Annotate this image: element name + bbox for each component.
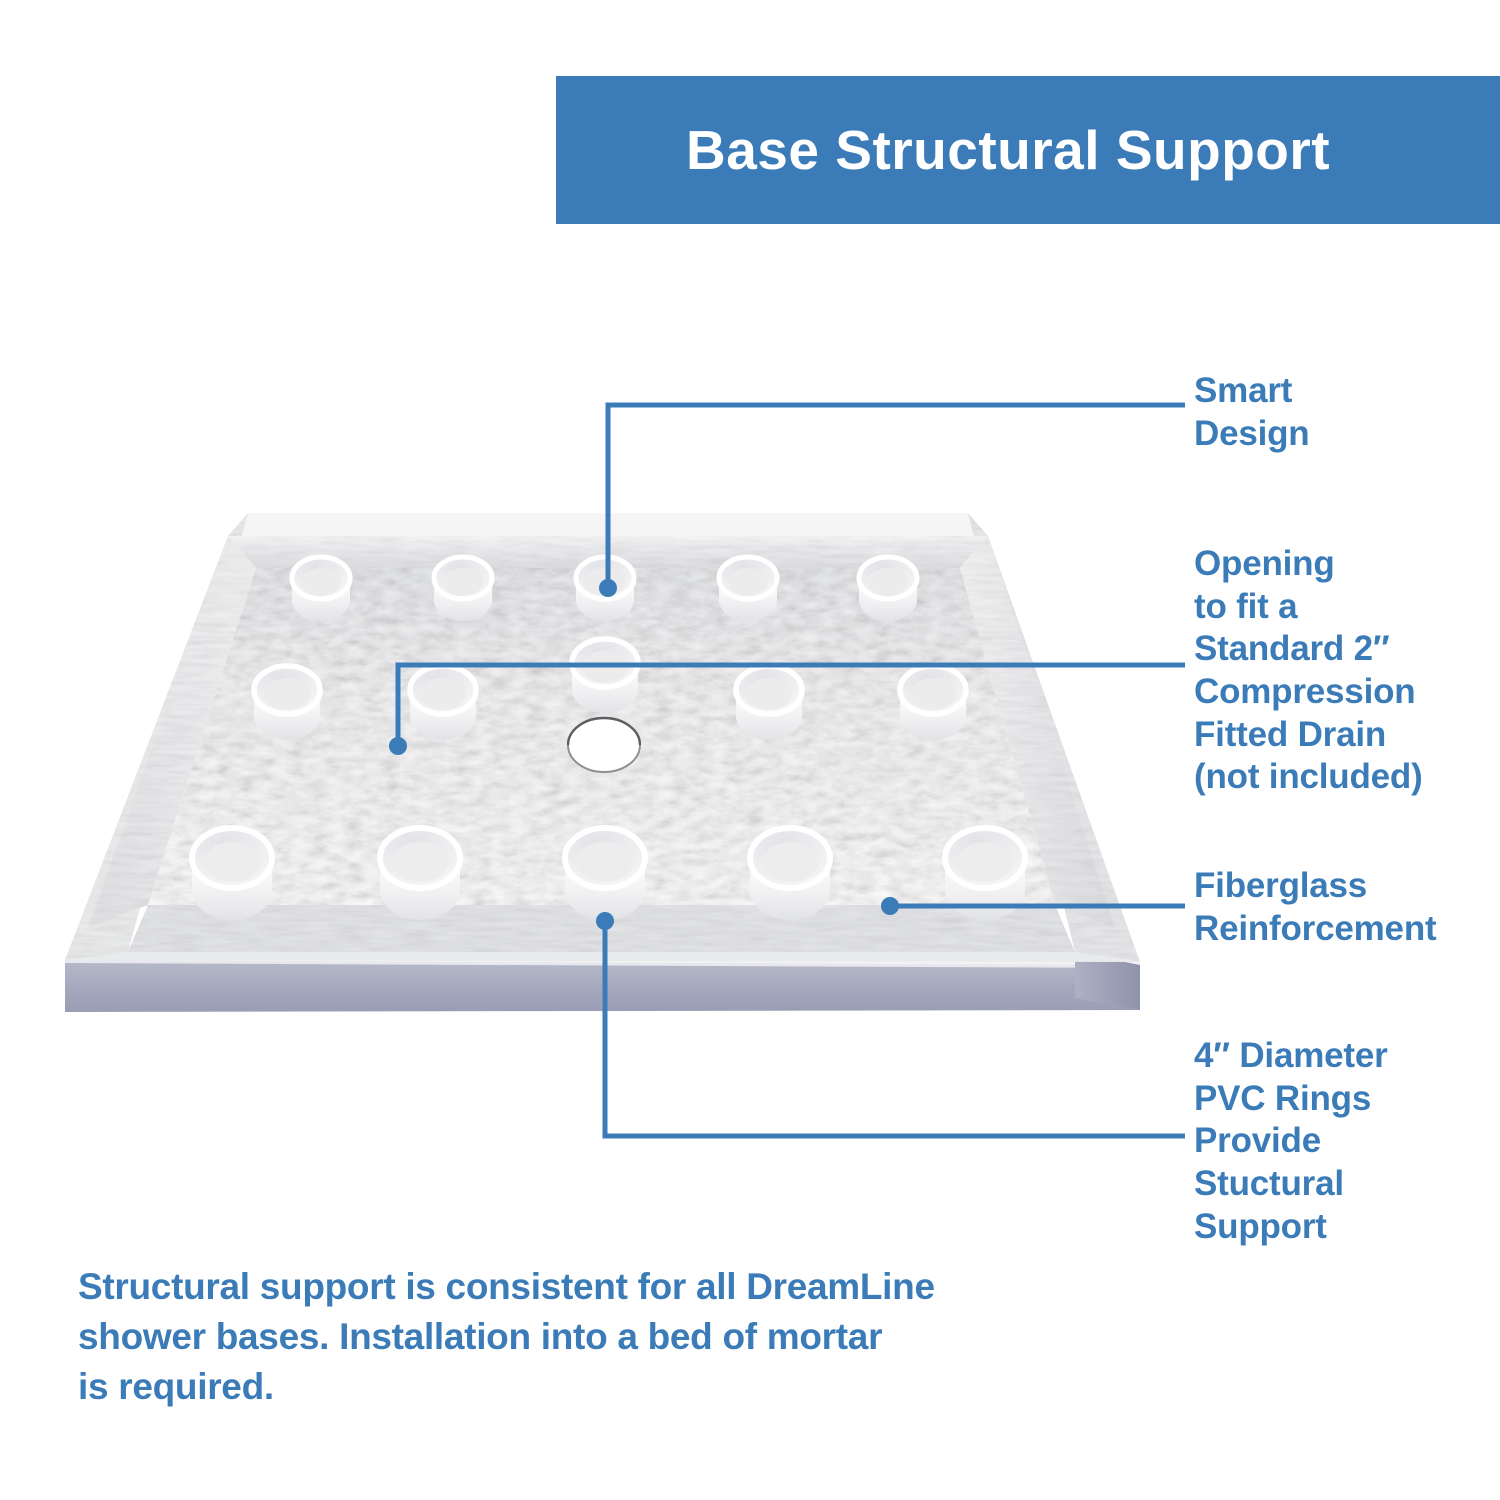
callout-line: (not included) <box>1194 756 1423 799</box>
callout-line: Fitted Drain <box>1194 714 1423 757</box>
callout-line: Design <box>1194 413 1310 456</box>
callout-line: Standard 2″ <box>1194 628 1423 671</box>
callout-line: PVC Rings <box>1194 1078 1388 1121</box>
pvc-ring <box>859 557 917 621</box>
pvc-ring <box>719 557 777 621</box>
callout-line: Compression <box>1194 671 1423 714</box>
pvc-ring <box>736 666 802 740</box>
callout-pvc-rings: 4″ Diameter PVC Rings Provide Stuctural … <box>1194 1035 1388 1248</box>
pvc-ring <box>292 557 350 621</box>
callout-line: Smart <box>1194 370 1310 413</box>
callout-line: Stuctural <box>1194 1163 1388 1206</box>
callout-line: to fit a <box>1194 586 1423 629</box>
pvc-ring <box>750 828 830 920</box>
pvc-ring <box>565 828 645 920</box>
footer-line: shower bases. Installation into a bed of… <box>78 1312 1038 1362</box>
pvc-ring <box>410 666 476 740</box>
footer-line: Structural support is consistent for all… <box>78 1262 1038 1312</box>
product-illustration <box>0 0 1200 1100</box>
drain-opening <box>568 718 640 772</box>
callout-line: Opening <box>1194 543 1423 586</box>
callout-line: Fiberglass <box>1194 865 1436 908</box>
callout-fiberglass: Fiberglass Reinforcement <box>1194 865 1436 950</box>
callout-line: Reinforcement <box>1194 908 1436 951</box>
footer-line: is required. <box>78 1362 1038 1412</box>
pvc-ring <box>254 666 320 740</box>
pvc-ring <box>380 828 460 920</box>
callout-line: 4″ Diameter <box>1194 1035 1388 1078</box>
shower-base-diagram <box>0 0 1200 1100</box>
callout-smart-design: Smart Design <box>1194 370 1310 455</box>
callout-opening-drain: Opening to fit a Standard 2″ Compression… <box>1194 543 1423 799</box>
pvc-ring <box>434 557 492 621</box>
pvc-ring <box>192 828 272 920</box>
callout-line: Provide <box>1194 1120 1388 1163</box>
callout-line: Support <box>1194 1206 1388 1249</box>
base-front-side-face <box>65 957 1140 1012</box>
pvc-ring-group-center-top <box>572 639 638 713</box>
pvc-ring <box>572 639 638 713</box>
pvc-ring <box>900 666 966 740</box>
footer-note: Structural support is consistent for all… <box>78 1262 1038 1412</box>
pvc-ring <box>945 828 1025 920</box>
pvc-ring <box>576 557 634 621</box>
